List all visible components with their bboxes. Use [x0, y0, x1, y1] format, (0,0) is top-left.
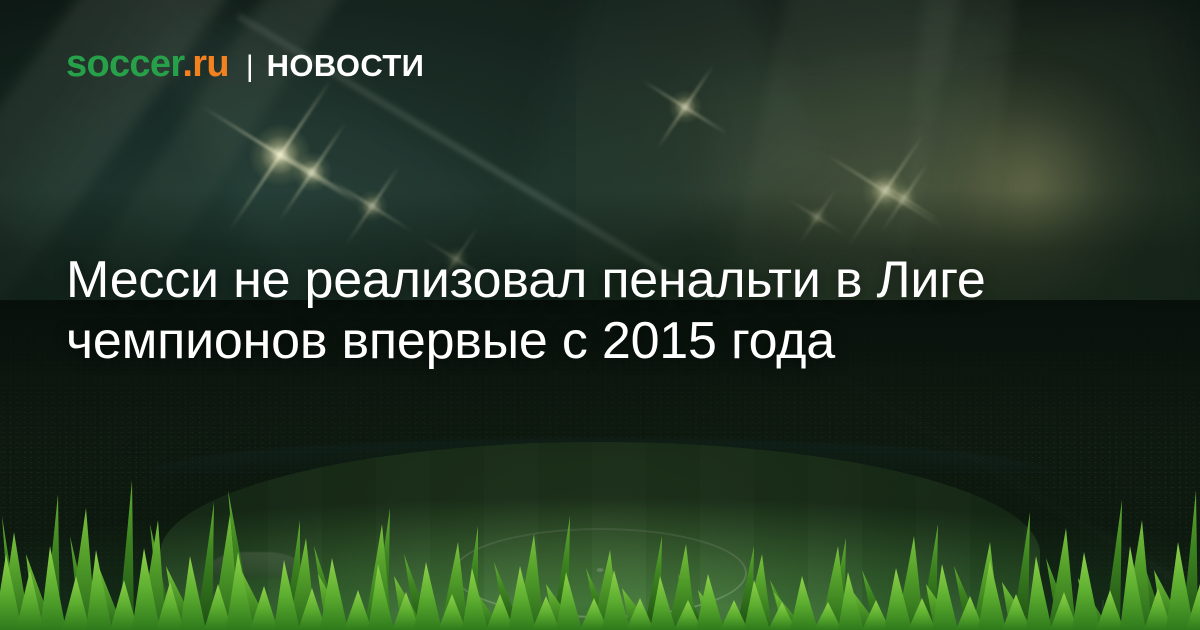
floodlight-flare-5: [668, 90, 702, 124]
logo-word-soccer: soccer: [66, 43, 182, 85]
logo-word-ru: .ru: [182, 43, 229, 85]
masthead-separator: |: [246, 52, 254, 82]
masthead[interactable]: soccer.ru | НОВОСТИ: [66, 45, 424, 83]
foreground-grass: [0, 450, 1200, 630]
news-share-card: soccer.ru | НОВОСТИ Месси не реализовал …: [0, 0, 1200, 630]
section-label-news: НОВОСТИ: [267, 50, 425, 81]
article-headline: Месси не реализовал пенальти в Лиге чемп…: [66, 250, 1146, 372]
site-logo[interactable]: soccer.ru: [66, 45, 229, 83]
floodlight-flare-2: [292, 152, 332, 192]
